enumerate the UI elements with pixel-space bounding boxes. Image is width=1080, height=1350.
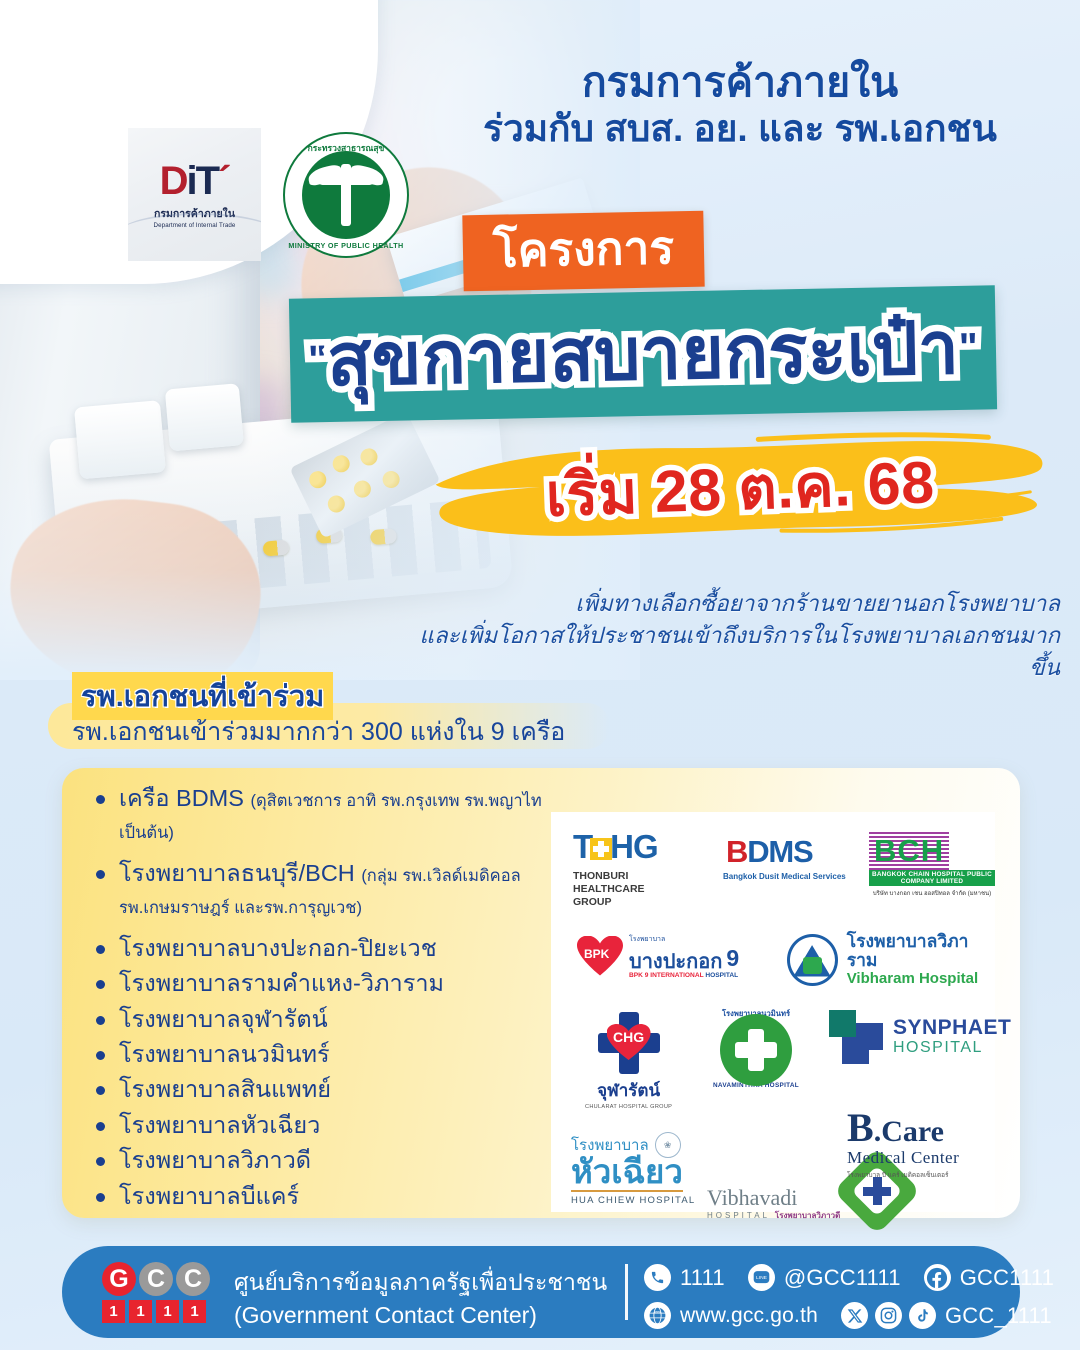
gcc-name: ศูนย์บริการข้อมูลภาครัฐเพื่อประชาชน (Gov… xyxy=(234,1266,607,1331)
header-line-1: กรมการค้าภายใน xyxy=(420,58,1060,106)
bullet-dot xyxy=(96,945,105,954)
list-item-note: (กลุ่ม รพ.เวิลด์เมดิคอล xyxy=(361,867,520,885)
list-item: โรงพยาบาลสินแพทย์ xyxy=(96,1073,566,1105)
campaign-start-date: เริ่ม 28 ต.ค. 68 xyxy=(428,421,1052,555)
bcare-care-text: .Care xyxy=(874,1115,944,1148)
gcc-name-en: (Government Contact Center) xyxy=(234,1299,607,1332)
gcc-letters: G C C xyxy=(102,1262,214,1296)
globe-icon: www xyxy=(644,1302,671,1329)
instagram-icon xyxy=(875,1302,902,1329)
list-item-text: โรงพยาบาลวิภาวดี xyxy=(119,1144,311,1176)
list-item-text: โรงพยาบาลบางปะกอก-ปิยะเวช xyxy=(119,932,437,964)
svg-text:LINE: LINE xyxy=(756,1275,768,1281)
x-twitter-icon xyxy=(841,1302,868,1329)
dit-tick: ´ xyxy=(218,159,229,203)
bpk-sub-blue: HOSPITAL xyxy=(704,972,739,979)
tiktok-icon xyxy=(909,1302,936,1329)
gcc-digit-1: 1 xyxy=(102,1300,125,1323)
huachiew-name-th: หัวเฉียว xyxy=(571,1155,695,1188)
huachiew-logo: โรงพยาบาล ❀ หัวเฉียว HUA CHIEW HOSPITAL xyxy=(571,1132,695,1206)
contact-details: 1111 LINE @GCC1111 GCC1111 www www.gcc.g… xyxy=(644,1262,1054,1331)
synphaet-name-group: SYNPHAET HOSPITAL xyxy=(893,1017,1011,1057)
chg-name-th: จุฬารัตน์ xyxy=(585,1077,672,1104)
section-subheading: รพ.เอกชนเข้าร่วมมากกว่า 300 แห่งใน 9 เคร… xyxy=(72,712,565,752)
gcc-digit-3: 1 xyxy=(156,1300,179,1323)
list-item-note-2: รพ.เกษมราษฎร์ และรพ.การุญเวช) xyxy=(119,899,362,917)
hospital-bullet-list: เครือ BDMS (ดุสิตเวชการ อาทิ รพ.กรุงเทพ … xyxy=(96,782,566,1215)
bullet-dot xyxy=(96,795,105,804)
thg-wordmark: THG xyxy=(573,828,658,866)
social-handle[interactable]: GCC_1111 xyxy=(945,1303,1052,1329)
synphaet-name: SYNPHAET xyxy=(893,1017,1011,1039)
list-item-main: โรงพยาบาลธนบุรี/BCH xyxy=(119,860,355,886)
vibharam-logo: โรงพยาบาลวิภาราม Vibharam Hospital xyxy=(787,932,995,987)
vibharam-triangle-icon xyxy=(787,934,838,986)
vibhavadi-name-group: Vibhavadi HOSPITAL โรงพยาบาลวิภาวดี xyxy=(707,1187,840,1222)
navaminthra-logo: โรงพยาบาลนวมินทร์ NAVAMINTHRA HOSPITAL xyxy=(701,1008,811,1089)
bpk-sub-red: BPK 9 INTERNATIONAL xyxy=(629,972,704,979)
hospital-logos-panel: THG THONBURI HEALTHCARE GROUP BDMS Bangk… xyxy=(551,812,995,1212)
campaign-title: "สุขกายสบายกระเป๋า" xyxy=(289,285,997,423)
dit-logo: DiT´ กรมการค้าภายใน Department of Intern… xyxy=(128,128,261,261)
phone-icon xyxy=(644,1264,671,1291)
campaign-title-text: สุขกายสบายกระเป๋า xyxy=(326,290,960,418)
quote-close: " xyxy=(958,325,978,370)
vibhavadi-sub-en: HOSPITAL xyxy=(707,1211,770,1220)
medical-cross-icon xyxy=(720,1014,792,1086)
project-tag: โครงการ xyxy=(462,211,704,292)
bullet-dot xyxy=(96,980,105,989)
vibhavadi-name: Vibhavadi xyxy=(707,1187,840,1209)
dit-wordmark: DiT´ xyxy=(160,161,230,201)
bpk-logo: BPK โรงพยาบาล บางปะกอก 9 BPK 9 INTERNATI… xyxy=(577,934,739,979)
line-id[interactable]: @GCC1111 xyxy=(784,1265,901,1291)
bcare-name-th: โรงพยาบาล บี แคร์ เมดิคอลเซ็นเตอร์ xyxy=(847,1170,959,1180)
thg-letters-hg: HG xyxy=(610,828,658,865)
list-item-text: เครือ BDMS (ดุสิตเวชการ อาทิ รพ.กรุงเทพ … xyxy=(119,782,566,847)
chg-mark: CHG xyxy=(608,1029,650,1045)
list-item: โรงพยาบาลนวมินทร์ xyxy=(96,1038,566,1070)
bch-caption-en: BANGKOK CHAIN HOSPITAL PUBLIC COMPANY LI… xyxy=(869,870,995,886)
line-icon: LINE xyxy=(748,1264,775,1291)
bpk-name-th: บางปะกอก xyxy=(629,952,722,972)
thg-caption: THONBURI HEALTHCARE GROUP xyxy=(573,870,695,908)
thg-logo: THG THONBURI HEALTHCARE GROUP xyxy=(573,828,695,908)
contact-row-1: 1111 LINE @GCC1111 GCC1111 xyxy=(644,1262,1054,1293)
list-item: โรงพยาบาลธนบุรี/BCH (กลุ่ม รพ.เวิลด์เมดิ… xyxy=(96,857,566,922)
bdms-letter-b: B xyxy=(723,834,747,869)
moph-inner-disc xyxy=(302,151,390,239)
gcc-letter-c1: C xyxy=(139,1262,173,1296)
bullet-dot xyxy=(96,1122,105,1131)
huachiew-name-en: HUA CHIEW HOSPITAL xyxy=(571,1195,695,1206)
phone-number[interactable]: 1111 xyxy=(680,1265,725,1291)
divider xyxy=(571,1190,683,1192)
svg-text:www: www xyxy=(654,1310,662,1314)
list-item-text: โรงพยาบาลสินแพทย์ xyxy=(119,1073,331,1105)
medical-cross-icon xyxy=(829,1010,883,1064)
bpk-subtitle: BPK 9 INTERNATIONAL HOSPITAL xyxy=(629,972,739,979)
dit-name-th: กรมการค้าภายใน xyxy=(154,205,235,222)
bullet-dot xyxy=(96,1086,105,1095)
bpk-name-group: โรงพยาบาล บางปะกอก 9 BPK 9 INTERNATIONAL… xyxy=(629,934,739,979)
bch-logo: BCH BANGKOK CHAIN HOSPITAL PUBLIC COMPAN… xyxy=(869,832,995,898)
quote-open: " xyxy=(308,338,328,383)
list-item-text: โรงพยาบาลบีแคร์ xyxy=(119,1180,299,1212)
list-item: โรงพยาบาลบีแคร์ xyxy=(96,1180,566,1212)
moph-name-en: MINISTRY OF PUBLIC HEALTH xyxy=(285,241,407,250)
bdms-logo: BDMS Bangkok Dusit Medical Services xyxy=(723,834,846,881)
bpk-name-small: โรงพยาบาล xyxy=(629,934,739,945)
header-text: กรมการค้าภายใน ร่วมกับ สบส. อย. และ รพ.เ… xyxy=(420,58,1060,152)
thg-plus-icon xyxy=(590,838,612,860)
list-item-text: โรงพยาบาลนวมินทร์ xyxy=(119,1038,330,1070)
medical-cross-icon: CHG xyxy=(598,1012,660,1074)
gcc-numbers: 1 1 1 1 xyxy=(102,1300,214,1323)
list-item: โรงพยาบาลหัวเฉียว xyxy=(96,1109,566,1141)
bullet-dot xyxy=(96,1157,105,1166)
dit-letter-t: T xyxy=(196,159,218,203)
website-url[interactable]: www.gcc.go.th xyxy=(680,1304,818,1328)
contact-row-2: www www.gcc.go.th GCC_1111 xyxy=(644,1300,1054,1331)
bcare-letter-b: B xyxy=(847,1105,874,1150)
list-item-text: โรงพยาบาลธนบุรี/BCH (กลุ่ม รพ.เวิลด์เมดิ… xyxy=(119,857,521,922)
caduceus-icon xyxy=(341,164,351,226)
list-item-text: โรงพยาบาลจุฬารัตน์ xyxy=(119,1003,328,1035)
vibharam-name-en: Vibharam Hospital xyxy=(847,971,995,988)
bcare-wordmark: B.Care xyxy=(847,1108,959,1148)
gcc-name-th: ศูนย์บริการข้อมูลภาครัฐเพื่อประชาชน xyxy=(234,1266,607,1299)
list-item-main: เครือ BDMS xyxy=(119,785,244,811)
subtitle-line-1: เพิ่มทางเลือกซื้อยาจากร้านขายยานอกโรงพยา… xyxy=(400,588,1060,620)
synphaet-subtitle: HOSPITAL xyxy=(893,1039,1011,1057)
vibharam-name-group: โรงพยาบาลวิภาราม Vibharam Hospital xyxy=(847,932,995,987)
organization-logos: DiT´ กรมการค้าภายใน Department of Intern… xyxy=(128,128,409,261)
dit-name-en: Department of Internal Trade xyxy=(154,222,236,229)
dit-letter-d: D xyxy=(160,159,187,203)
bpk-mark: BPK xyxy=(584,947,609,961)
list-item-text: โรงพยาบาลหัวเฉียว xyxy=(119,1109,320,1141)
divider xyxy=(625,1264,628,1320)
bch-caption-th: บริษัท บางกอก เชน ฮอสปิทอล จำกัด (มหาชน) xyxy=(869,888,995,898)
dit-letter-i: i xyxy=(187,159,196,203)
gcc-digit-4: 1 xyxy=(183,1300,206,1323)
synphaet-logo: SYNPHAET HOSPITAL xyxy=(829,1010,1011,1064)
gcc-logo: G C C 1 1 1 1 xyxy=(102,1262,214,1323)
bch-wordmark: BCH xyxy=(869,832,949,870)
bdms-wordmark: BDMS xyxy=(723,834,846,870)
list-item: โรงพยาบาลจุฬารัตน์ xyxy=(96,1003,566,1035)
heart-icon: BPK xyxy=(577,936,623,978)
bdms-caption: Bangkok Dusit Medical Services xyxy=(723,872,846,881)
gcc-letter-g: G xyxy=(102,1262,136,1296)
bullet-dot xyxy=(96,1193,105,1202)
vibhavadi-subtitle: HOSPITAL โรงพยาบาลวิภาวดี xyxy=(707,1209,840,1222)
gcc-digit-2: 1 xyxy=(129,1300,152,1323)
bcare-logo: B.Care Medical Center โรงพยาบาล บี แคร์ … xyxy=(847,1108,959,1180)
gcc-letter-c2: C xyxy=(176,1262,210,1296)
bcare-line-2: Medical Center xyxy=(847,1148,959,1168)
header-line-2: ร่วมกับ สบส. อย. และ รพ.เอกชน xyxy=(420,106,1060,151)
moph-seal-logo: กระทรวงสาธารณสุข MINISTRY OF PUBLIC HEAL… xyxy=(283,132,409,258)
poster-root: DiT´ กรมการค้าภายใน Department of Intern… xyxy=(0,0,1080,1350)
contact-footer-bar: G C C 1 1 1 1 ศูนย์บริการข้อมูลภาครัฐเพื… xyxy=(62,1246,1020,1338)
bullet-dot xyxy=(96,1016,105,1025)
list-item: เครือ BDMS (ดุสิตเวชการ อาทิ รพ.กรุงเทพ … xyxy=(96,782,566,847)
campaign-subtitle: เพิ่มทางเลือกซื้อยาจากร้านขายยานอกโรงพยา… xyxy=(400,588,1060,684)
list-item: โรงพยาบาลรามคำแหง-วิภาราม xyxy=(96,967,566,999)
bullet-dot xyxy=(96,1051,105,1060)
chg-name-en: CHULARAT HOSPITAL GROUP xyxy=(585,1104,672,1110)
chg-logo: CHG จุฬารัตน์ CHULARAT HOSPITAL GROUP xyxy=(585,1012,672,1110)
bdms-letters-dms: DMS xyxy=(747,834,812,869)
vibhavadi-sub-th: โรงพยาบาลวิภาวดี xyxy=(775,1211,840,1220)
list-item: โรงพยาบาลบางปะกอก-ปิยะเวช xyxy=(96,932,566,964)
vibharam-name-th: โรงพยาบาลวิภาราม xyxy=(847,932,995,971)
subtitle-line-2: และเพิ่มโอกาสให้ประชาชนเข้าถึงบริการในโร… xyxy=(400,620,1060,684)
facebook-icon xyxy=(924,1264,951,1291)
facebook-handle[interactable]: GCC1111 xyxy=(960,1265,1054,1291)
list-item-text: โรงพยาบาลรามคำแหง-วิภาราม xyxy=(119,967,444,999)
bpk-number: 9 xyxy=(726,945,739,972)
bullet-dot xyxy=(96,870,105,879)
list-item: โรงพยาบาลวิภาวดี xyxy=(96,1144,566,1176)
